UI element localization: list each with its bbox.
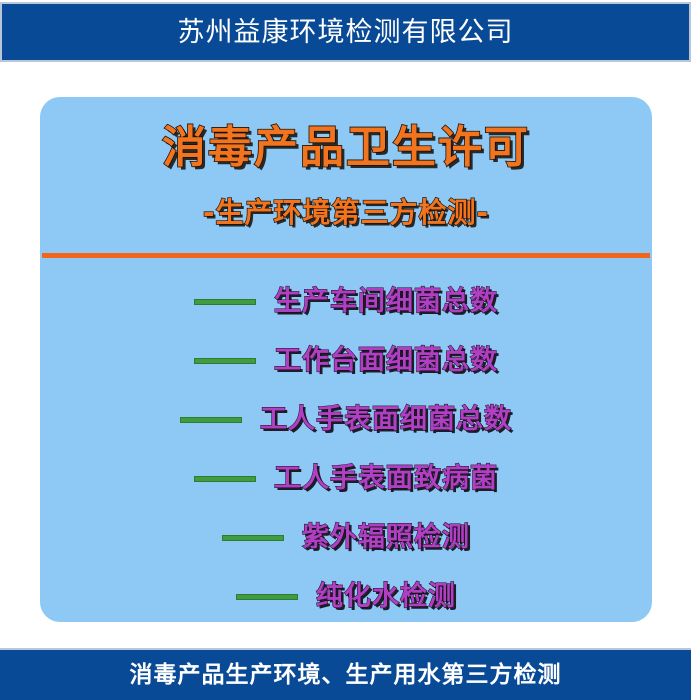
orange-divider bbox=[42, 253, 650, 258]
page-title: 消毒产品卫生许可 bbox=[40, 124, 652, 172]
green-dash-icon bbox=[236, 594, 298, 600]
list-item-label: 纯化水检测 bbox=[316, 583, 456, 610]
company-name: 苏州益康环境检测有限公司 bbox=[178, 19, 514, 46]
main-panel: 消毒产品卫生许可 -生产环境第三方检测- 生产车间细菌总数 工作台面细菌总数 工… bbox=[40, 97, 652, 622]
list-item: 紫外辐照检测 bbox=[40, 508, 652, 567]
list-item: 生产车间细菌总数 bbox=[40, 272, 652, 331]
green-dash-icon bbox=[222, 535, 284, 541]
poster-canvas: 苏州益康环境检测有限公司 消毒产品卫生许可 -生产环境第三方检测- 生产车间细菌… bbox=[0, 0, 691, 700]
green-dash-icon bbox=[194, 476, 256, 482]
list-item: 工人手表面致病菌 bbox=[40, 449, 652, 508]
list-item-label: 紫外辐照检测 bbox=[302, 524, 470, 551]
green-dash-icon bbox=[194, 299, 256, 305]
footer-bar: 消毒产品生产环境、生产用水第三方检测 bbox=[0, 648, 691, 700]
list-item: 纯化水检测 bbox=[40, 567, 652, 626]
header-bar: 苏州益康环境检测有限公司 bbox=[0, 2, 691, 62]
footer-caption: 消毒产品生产环境、生产用水第三方检测 bbox=[130, 664, 562, 687]
list-item: 工人手表面细菌总数 bbox=[40, 390, 652, 449]
list-item-label: 工人手表面细菌总数 bbox=[260, 406, 512, 433]
page-subtitle: -生产环境第三方检测- bbox=[40, 198, 652, 229]
list-item-label: 工作台面细菌总数 bbox=[274, 347, 498, 374]
green-dash-icon bbox=[194, 358, 256, 364]
list-item-label: 工人手表面致病菌 bbox=[274, 465, 498, 492]
list-item-label: 生产车间细菌总数 bbox=[274, 288, 498, 315]
list-item: 工作台面细菌总数 bbox=[40, 331, 652, 390]
service-item-list: 生产车间细菌总数 工作台面细菌总数 工人手表面细菌总数 工人手表面致病菌 紫外辐… bbox=[40, 272, 652, 626]
green-dash-icon bbox=[180, 417, 242, 423]
